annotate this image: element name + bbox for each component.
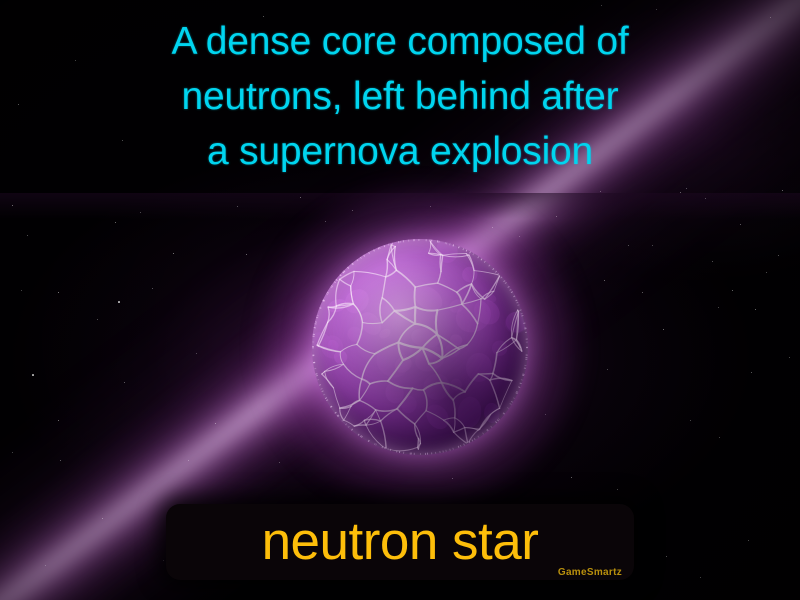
definition-text: A dense core composed of neutrons, left … xyxy=(0,14,800,179)
neutron-star-sphere xyxy=(312,239,528,455)
definition-card: A dense core composed of neutrons, left … xyxy=(0,0,800,600)
term-plate: neutron star GameSmartz xyxy=(166,504,634,580)
crust-cracks-icon xyxy=(312,239,528,455)
watermark-label: GameSmartz xyxy=(558,567,622,578)
